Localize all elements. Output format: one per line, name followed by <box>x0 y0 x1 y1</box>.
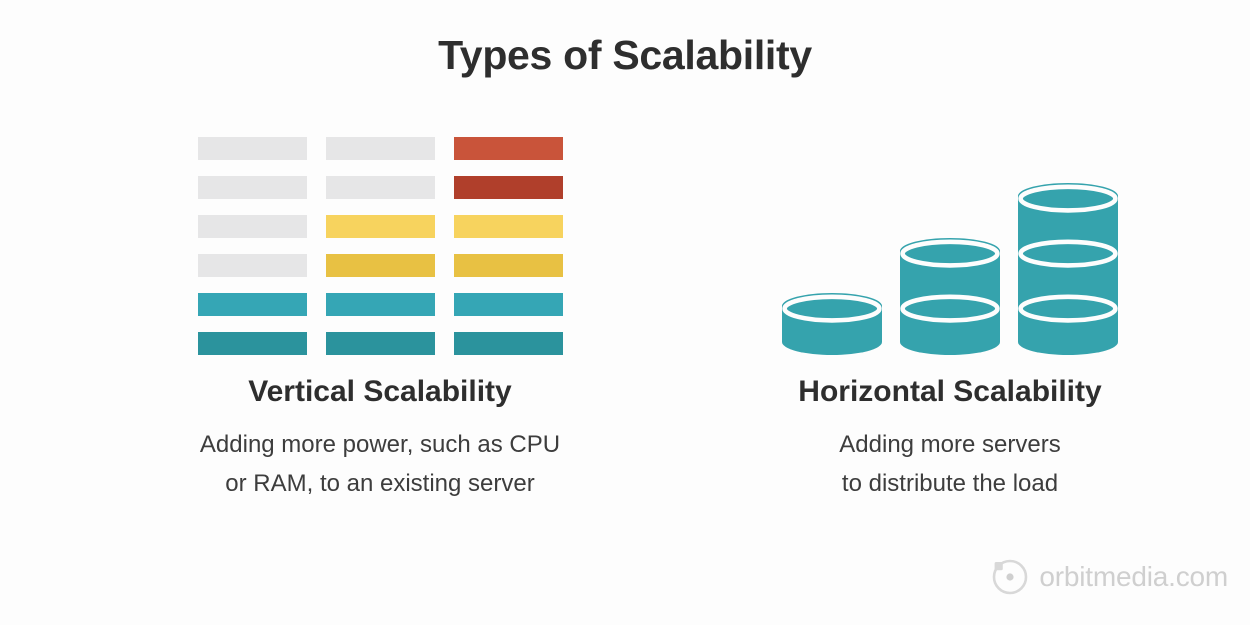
panel-horizontal-scalability: Horizontal Scalability Adding more serve… <box>705 130 1195 503</box>
bar <box>198 215 307 238</box>
bar-grid <box>198 137 563 355</box>
vertical-scalability-heading: Vertical Scalability <box>55 375 705 409</box>
database-cylinder-icon <box>782 293 882 355</box>
bar <box>454 176 563 199</box>
bar <box>454 254 563 277</box>
bar <box>454 332 563 355</box>
database-cylinder-icon <box>900 238 1000 355</box>
bar <box>454 215 563 238</box>
bar <box>198 137 307 160</box>
bar <box>326 254 435 277</box>
bar <box>326 176 435 199</box>
description-line: Adding more servers <box>705 425 1195 464</box>
orbit-icon <box>990 557 1030 597</box>
bar <box>326 332 435 355</box>
cylinder-stack-1 <box>782 293 882 355</box>
database-cylinder-icon <box>1018 183 1118 355</box>
horizontal-scalability-description: Adding more servers to distribute the lo… <box>705 425 1195 503</box>
description-line: Adding more power, such as CPU <box>55 425 705 464</box>
description-line: to distribute the load <box>705 464 1195 503</box>
description-line: or RAM, to an existing server <box>55 464 705 503</box>
bar <box>198 332 307 355</box>
horizontal-scalability-heading: Horizontal Scalability <box>705 375 1195 409</box>
bar <box>198 254 307 277</box>
cylinder-stack-2 <box>900 238 1000 355</box>
cylinder-stack-row <box>782 183 1118 355</box>
bar <box>326 293 435 316</box>
bar-column-3 <box>454 137 563 355</box>
page-title: Types of Scalability <box>0 32 1250 79</box>
vertical-scalability-description: Adding more power, such as CPU or RAM, t… <box>55 425 705 503</box>
bar <box>454 293 563 316</box>
bar <box>326 215 435 238</box>
bar-column-1 <box>198 137 307 355</box>
orbitmedia-logo[interactable]: orbitmedia.com <box>990 557 1228 597</box>
panel-vertical-scalability: Vertical Scalability Adding more power, … <box>55 130 705 503</box>
bar <box>454 137 563 160</box>
bar <box>198 176 307 199</box>
logo-wordmark: orbitmedia.com <box>1039 561 1228 593</box>
bar <box>198 293 307 316</box>
horizontal-scalability-figure <box>705 130 1195 355</box>
vertical-scalability-figure <box>55 130 705 355</box>
cylinder-stack-3 <box>1018 183 1118 355</box>
bar <box>326 137 435 160</box>
bar-column-2 <box>326 137 435 355</box>
